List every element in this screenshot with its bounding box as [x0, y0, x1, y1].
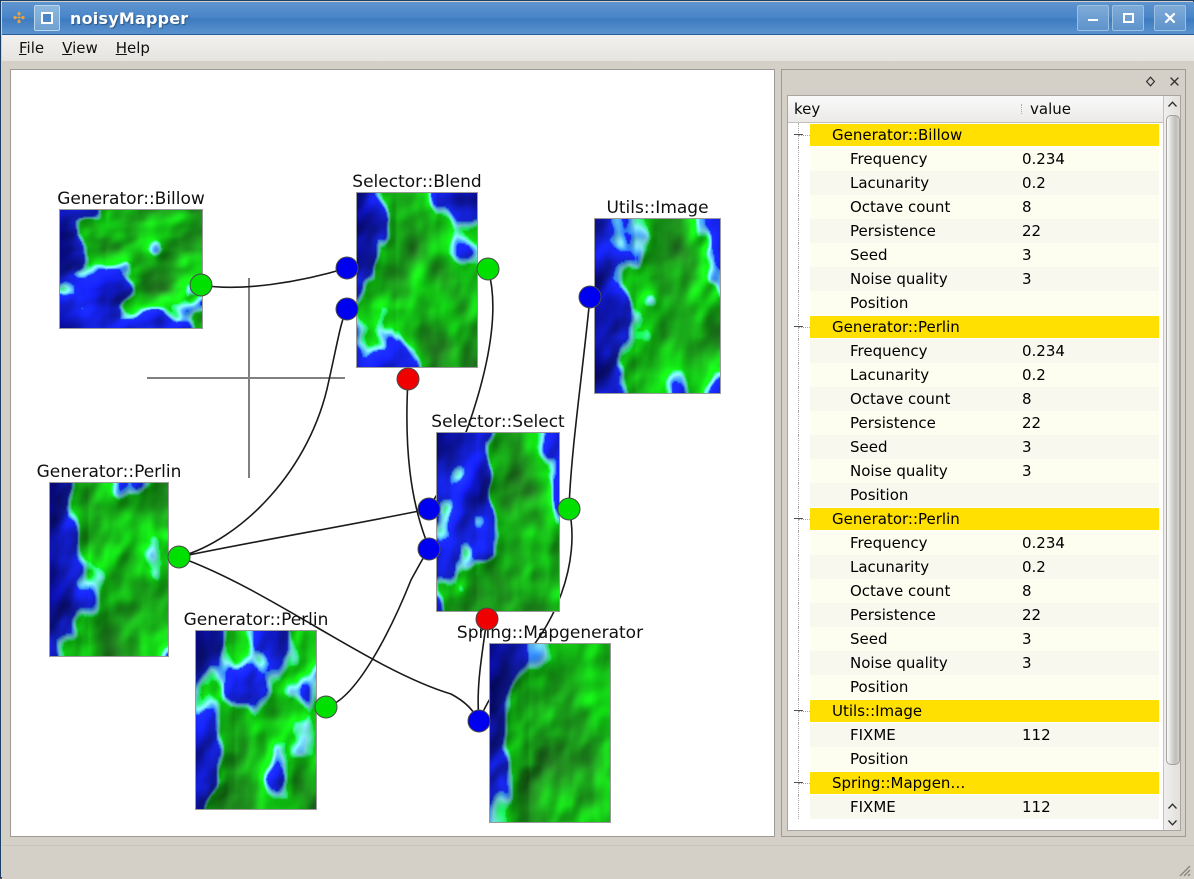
node-selector-blend[interactable]: Selector::Blend [352, 172, 481, 368]
document-icon [34, 5, 60, 31]
menu-file-label: ile [27, 39, 45, 57]
tree-value-cell[interactable]: 0.2 [1022, 174, 1046, 192]
tree-leaf-row[interactable]: Seed3 [788, 243, 1163, 267]
tree-leaf-row[interactable]: Noise quality3 [788, 651, 1163, 675]
port-select-extra[interactable] [476, 608, 498, 630]
node-thumbnail [59, 209, 203, 329]
node-utils-image[interactable]: Utils::Image [594, 198, 721, 394]
tree-guide-line [798, 219, 799, 243]
node-label: Generator::Perlin [37, 462, 182, 482]
tree-value-cell[interactable]: 3 [1022, 462, 1032, 480]
tree-leaf-row[interactable]: Lacunarity0.2 [788, 363, 1163, 387]
tree-guide-line [798, 783, 810, 784]
tree-key-cell: Noise quality [850, 270, 1022, 288]
menu-bar: File View Help [2, 35, 1194, 61]
tree-guide-line [798, 459, 799, 483]
tree-key-cell: FIXME [850, 726, 1022, 744]
tree-key-cell: Seed [850, 630, 1022, 648]
tree-leaf-row[interactable]: Octave count8 [788, 387, 1163, 411]
tree-key-cell: Frequency [850, 150, 1022, 168]
status-bar [2, 845, 1194, 879]
property-dock: key value Generator::BillowFrequency0.23… [781, 69, 1186, 837]
tree-leaf-row[interactable]: Persistence22 [788, 411, 1163, 435]
tree-leaf-row[interactable]: Position [788, 747, 1163, 771]
tree-value-cell[interactable]: 0.234 [1022, 534, 1065, 552]
tree-value-cell[interactable]: 22 [1022, 222, 1041, 240]
property-tree-header: key value [788, 96, 1163, 123]
node-thumbnail [356, 192, 478, 368]
tree-group-row[interactable]: Generator::Perlin [788, 507, 1163, 531]
node-label: Utils::Image [606, 198, 708, 218]
node-thumbnail [195, 630, 317, 810]
tree-guide-line [798, 339, 799, 363]
tree-leaf-row[interactable]: FIXME112 [788, 723, 1163, 747]
minimize-icon [1086, 12, 1100, 24]
port-select-in-1[interactable] [418, 498, 440, 520]
tree-guide-line [798, 387, 799, 411]
tree-value-cell[interactable]: 0.234 [1022, 150, 1065, 168]
tree-guide-line [798, 435, 799, 459]
tree-guide-line [798, 579, 799, 603]
tree-value-cell[interactable]: 8 [1022, 198, 1032, 216]
dock-close-button[interactable] [1167, 74, 1181, 88]
close-button[interactable] [1154, 5, 1186, 31]
dock-title-bar [1143, 72, 1181, 90]
scroll-down-icon [1167, 818, 1178, 827]
port-select-out[interactable] [558, 498, 580, 520]
column-header-key[interactable]: key [788, 100, 1022, 118]
tree-guide-line [798, 411, 799, 435]
tree-key-cell: Persistence [850, 414, 1022, 432]
tree-guide-line [798, 363, 799, 387]
close-icon [1169, 76, 1180, 87]
port-perlin-bottom-out[interactable] [315, 696, 337, 718]
scrollbar-up-button[interactable] [1164, 96, 1180, 112]
tree-leaf-row[interactable]: Lacunarity0.2 [788, 555, 1163, 579]
column-header-key-label: key [794, 100, 820, 118]
tree-key-cell: Position [850, 486, 1022, 504]
scrollbar-thumb[interactable] [1166, 115, 1180, 765]
port-blend-in-2[interactable] [336, 298, 358, 320]
menu-view-accel: V [62, 39, 72, 57]
tree-key-cell: FIXME [850, 798, 1022, 816]
tree-guide-line [798, 651, 799, 675]
tree-expander-collapse[interactable] [794, 326, 803, 327]
tree-value-cell[interactable]: 22 [1022, 606, 1041, 624]
tree-value-cell[interactable]: 0.2 [1022, 366, 1046, 384]
port-select-in-2[interactable] [418, 538, 440, 560]
tree-value-cell[interactable]: 3 [1022, 246, 1032, 264]
tree-expander-collapse[interactable] [794, 782, 803, 783]
tree-guide-line [798, 327, 810, 328]
node-label: Selector::Select [431, 412, 565, 432]
tree-guide-line [798, 723, 799, 747]
tree-guide-line [798, 291, 799, 315]
menu-help-label: elp [127, 39, 150, 57]
tree-guide-line [798, 483, 799, 507]
tree-value-cell[interactable]: 8 [1022, 390, 1032, 408]
tree-key-cell: Octave count [850, 582, 1022, 600]
tree-guide-line [798, 603, 799, 627]
maximize-button[interactable] [1112, 5, 1144, 31]
column-header-value[interactable]: value [1022, 100, 1163, 118]
resize-grip-icon[interactable] [1177, 863, 1191, 877]
node-thumbnail [594, 218, 721, 394]
tree-scrollbar[interactable] [1163, 96, 1180, 830]
tree-value-cell[interactable]: 112 [1022, 798, 1051, 816]
tree-guide-line [798, 147, 799, 171]
tree-expander-collapse[interactable] [794, 134, 803, 135]
tree-leaf-row[interactable]: Frequency0.234 [788, 339, 1163, 363]
node-generator-perlin-bottom[interactable]: Generator::Perlin [184, 610, 329, 810]
edge-billow-to-blend-in1[interactable] [201, 268, 347, 287]
edge-perlin-left-to-select-in1[interactable] [179, 509, 429, 557]
tree-key-cell: Frequency [850, 534, 1022, 552]
tree-group-row[interactable]: Spring::Mapgen… [788, 771, 1163, 795]
tree-key-cell: Noise quality [850, 654, 1022, 672]
tree-guide-line [798, 795, 799, 819]
tree-key-cell: Lacunarity [850, 174, 1022, 192]
port-mapgen-in[interactable] [468, 710, 490, 732]
tree-group-label: Generator::Billow [810, 124, 1159, 146]
scrollbar-down-button[interactable] [1164, 814, 1180, 830]
tree-leaf-row[interactable]: Octave count8 [788, 195, 1163, 219]
menu-help[interactable]: Help [107, 37, 159, 59]
menu-file-accel: F [19, 39, 27, 57]
edge-image-in-to-select-out[interactable] [569, 297, 590, 509]
tree-leaf-row[interactable]: Lacunarity0.2 [788, 171, 1163, 195]
menu-file[interactable]: File [10, 37, 53, 59]
tree-leaf-row[interactable]: Seed3 [788, 435, 1163, 459]
tree-key-cell: Position [850, 678, 1022, 696]
tree-group-row[interactable]: Generator::Billow [788, 123, 1163, 147]
tree-guide-line [798, 171, 799, 195]
tree-guide-line [798, 243, 799, 267]
tree-leaf-row[interactable]: Position [788, 483, 1163, 507]
tree-value-cell[interactable]: 0.234 [1022, 342, 1065, 360]
port-blend-extra[interactable] [397, 368, 419, 390]
tree-value-cell[interactable]: 22 [1022, 414, 1041, 432]
application-window: ✣ noisyMapper File View Help [0, 0, 1194, 878]
column-header-value-label: value [1030, 100, 1071, 118]
tree-guide-line [798, 711, 810, 712]
app-icon: ✣ [8, 7, 30, 29]
window-title: noisyMapper [70, 9, 188, 28]
tree-expander-collapse[interactable] [794, 710, 803, 711]
port-blend-in-1[interactable] [336, 257, 358, 279]
tree-key-cell: Position [850, 750, 1022, 768]
tree-key-cell: Frequency [850, 342, 1022, 360]
node-generator-perlin-left[interactable]: Generator::Perlin [37, 462, 182, 657]
tree-key-cell: Octave count [850, 390, 1022, 408]
tree-key-cell: Persistence [850, 222, 1022, 240]
tree-group-label: Spring::Mapgen… [810, 772, 1159, 794]
property-tree[interactable]: key value Generator::BillowFrequency0.23… [787, 95, 1181, 831]
tree-group-row[interactable]: Utils::Image [788, 699, 1163, 723]
node-thumbnail [436, 432, 560, 612]
tree-group-label: Utils::Image [810, 700, 1159, 722]
node-selector-select[interactable]: Selector::Select [431, 412, 565, 612]
tree-guide-line [798, 519, 810, 520]
menu-view[interactable]: View [53, 37, 107, 59]
tree-value-cell[interactable]: 3 [1022, 654, 1032, 672]
menu-help-accel: H [116, 39, 127, 57]
scrollbar-up-button-bottom[interactable] [1164, 798, 1180, 814]
scroll-up-icon [1167, 802, 1178, 811]
tree-key-cell: Lacunarity [850, 558, 1022, 576]
edge-perlin-left-to-blend-in2[interactable] [179, 309, 347, 557]
tree-group-row[interactable]: Generator::Perlin [788, 315, 1163, 339]
node-label: Generator::Billow [57, 189, 205, 209]
edge-perlin-bottom-to-select-in2[interactable] [326, 549, 429, 707]
node-graph-canvas[interactable]: Generator::BillowSelector::BlendUtils::I… [10, 69, 775, 837]
tree-key-cell: Lacunarity [850, 366, 1022, 384]
port-blend-out[interactable] [477, 258, 499, 280]
tree-key-cell: Octave count [850, 198, 1022, 216]
node-label: Selector::Blend [352, 172, 481, 192]
minimize-button[interactable] [1077, 5, 1109, 31]
central-widget: Generator::BillowSelector::BlendUtils::I… [2, 61, 1194, 845]
tree-leaf-row[interactable]: Octave count8 [788, 579, 1163, 603]
scroll-up-icon [1167, 100, 1178, 109]
tree-key-cell: Persistence [850, 606, 1022, 624]
port-image-in[interactable] [579, 286, 601, 308]
tree-guide-line [798, 195, 799, 219]
port-billow-out[interactable] [190, 274, 212, 296]
node-thumbnail [489, 643, 611, 823]
tree-expander-collapse[interactable] [794, 518, 803, 519]
tree-leaf-row[interactable]: Noise quality3 [788, 267, 1163, 291]
tree-leaf-row[interactable]: Frequency0.234 [788, 147, 1163, 171]
maximize-icon [1121, 12, 1135, 24]
tree-group-label: Generator::Perlin [810, 316, 1159, 338]
menu-view-label: iew [72, 39, 98, 57]
node-graph-svg: Generator::BillowSelector::BlendUtils::I… [11, 70, 774, 836]
port-perlin-left-out[interactable] [168, 546, 190, 568]
tree-leaf-row[interactable]: Persistence22 [788, 219, 1163, 243]
node-label: Generator::Perlin [184, 610, 329, 630]
tree-leaf-row[interactable]: Position [788, 291, 1163, 315]
tree-guide-line [798, 675, 799, 699]
node-layer: Generator::BillowSelector::BlendUtils::I… [37, 172, 721, 823]
tree-key-cell: Position [850, 294, 1022, 312]
property-tree-rows: Generator::BillowFrequency0.234Lacunarit… [788, 123, 1163, 819]
float-icon [1145, 76, 1156, 87]
tree-key-cell: Noise quality [850, 462, 1022, 480]
tree-guide-line [798, 555, 799, 579]
tree-value-cell[interactable]: 112 [1022, 726, 1051, 744]
tree-leaf-row[interactable]: Persistence22 [788, 603, 1163, 627]
tree-group-label: Generator::Perlin [810, 508, 1159, 530]
tree-leaf-row[interactable]: Frequency0.234 [788, 531, 1163, 555]
tree-leaf-row[interactable]: Position [788, 675, 1163, 699]
tree-value-cell[interactable]: 8 [1022, 582, 1032, 600]
tree-value-cell[interactable]: 3 [1022, 438, 1032, 456]
tree-guide-line [798, 135, 810, 136]
tree-leaf-row[interactable]: FIXME112 [788, 795, 1163, 819]
property-tree-body: key value Generator::BillowFrequency0.23… [788, 96, 1163, 830]
tree-guide-line [798, 627, 799, 651]
title-bar: ✣ noisyMapper [2, 2, 1194, 35]
tree-value-cell[interactable]: 3 [1022, 630, 1032, 648]
node-generator-billow[interactable]: Generator::Billow [57, 189, 205, 329]
tree-leaf-row[interactable]: Seed3 [788, 627, 1163, 651]
tree-guide-line [798, 267, 799, 291]
dock-float-button[interactable] [1143, 74, 1157, 88]
tree-value-cell[interactable]: 0.2 [1022, 558, 1046, 576]
tree-value-cell[interactable]: 3 [1022, 270, 1032, 288]
node-thumbnail [49, 482, 169, 657]
tree-key-cell: Seed [850, 246, 1022, 264]
tree-leaf-row[interactable]: Noise quality3 [788, 459, 1163, 483]
tree-key-cell: Seed [850, 438, 1022, 456]
tree-guide-line [798, 747, 799, 771]
close-icon [1163, 11, 1177, 25]
tree-guide-line [798, 531, 799, 555]
